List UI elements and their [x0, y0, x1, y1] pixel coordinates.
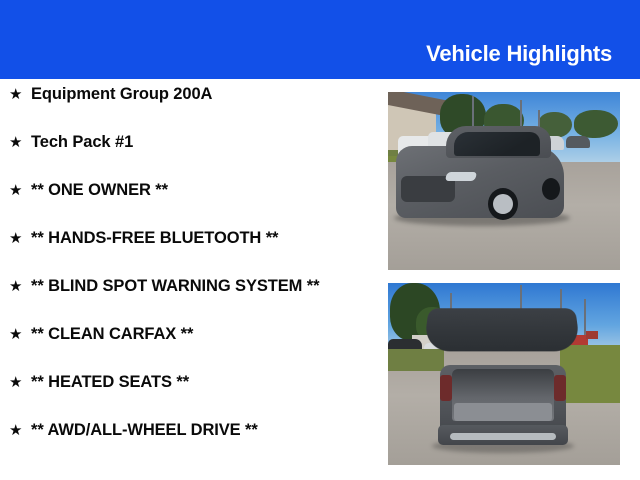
taillight [554, 375, 566, 401]
list-item: ★ ** BLIND SPOT WARNING SYSTEM ** [0, 275, 372, 301]
photo-scene [388, 92, 620, 270]
taillight [440, 375, 452, 401]
vehicle-photo-front [388, 92, 620, 270]
liftgate-open [423, 308, 581, 351]
star-icon: ★ [9, 323, 31, 347]
highlight-text: ** HANDS-FREE BLUETOOTH ** [31, 227, 372, 250]
suv-windshield [454, 132, 540, 156]
star-icon: ★ [9, 179, 31, 203]
page-title: Vehicle Highlights [426, 41, 612, 67]
suv-wheel [542, 178, 560, 200]
vehicle-highlights-list: ★ Equipment Group 200A ★ Tech Pack #1 ★ … [0, 83, 372, 467]
grass [388, 349, 444, 371]
list-item: ★ Tech Pack #1 [0, 131, 372, 157]
list-item: ★ ** AWD/ALL-WHEEL DRIVE ** [0, 419, 372, 445]
highlight-text: ** HEATED SEATS ** [31, 371, 372, 394]
suv-headlight [445, 172, 478, 181]
star-icon: ★ [9, 131, 31, 155]
star-icon: ★ [9, 275, 31, 299]
header-banner: Vehicle Highlights [0, 0, 640, 79]
highlight-text: ** CLEAN CARFAX ** [31, 323, 372, 346]
star-icon: ★ [9, 419, 31, 443]
photo-scene [388, 283, 620, 465]
highlight-text: Tech Pack #1 [31, 131, 372, 154]
list-item: ★ ** CLEAN CARFAX ** [0, 323, 372, 349]
cargo-floor [454, 403, 552, 421]
storefront-sign [586, 331, 598, 339]
suv-rim [493, 194, 513, 214]
highlight-text: ** BLIND SPOT WARNING SYSTEM ** [31, 275, 372, 298]
star-icon: ★ [9, 83, 31, 107]
highlight-text: ** AWD/ALL-WHEEL DRIVE ** [31, 419, 372, 442]
vehicle-photo-rear [388, 283, 620, 465]
grass [560, 345, 620, 403]
parked-vehicle [566, 136, 590, 148]
rear-bumper-trim [450, 433, 556, 440]
suv-wheel [488, 188, 518, 220]
highlight-text: ** ONE OWNER ** [31, 179, 372, 202]
list-item: ★ ** HANDS-FREE BLUETOOTH ** [0, 227, 372, 253]
star-icon: ★ [9, 371, 31, 395]
highlight-text: Equipment Group 200A [31, 83, 372, 106]
list-item: ★ Equipment Group 200A [0, 83, 372, 109]
list-item: ★ ** ONE OWNER ** [0, 179, 372, 205]
star-icon: ★ [9, 227, 31, 251]
list-item: ★ ** HEATED SEATS ** [0, 371, 372, 397]
